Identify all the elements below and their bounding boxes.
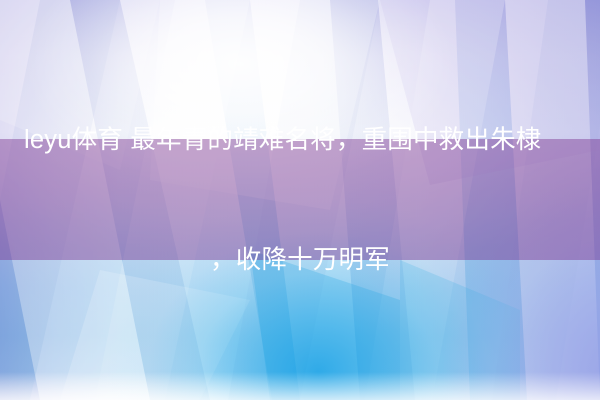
caption-banner: leyu体育 最年青的靖难名将，重围中救出朱棣 ，收降十万明军 [0, 139, 600, 260]
screenshot-stage: leyu体育 最年青的靖难名将，重围中救出朱棣 ，收降十万明军 [0, 0, 600, 400]
caption-text-block: leyu体育 最年青的靖难名将，重围中救出朱棣 ，收降十万明军 [22, 40, 578, 360]
caption-line-2: ，收降十万明军 [22, 240, 578, 280]
caption-line-1: leyu体育 最年青的靖难名将，重围中救出朱棣 [22, 120, 578, 160]
